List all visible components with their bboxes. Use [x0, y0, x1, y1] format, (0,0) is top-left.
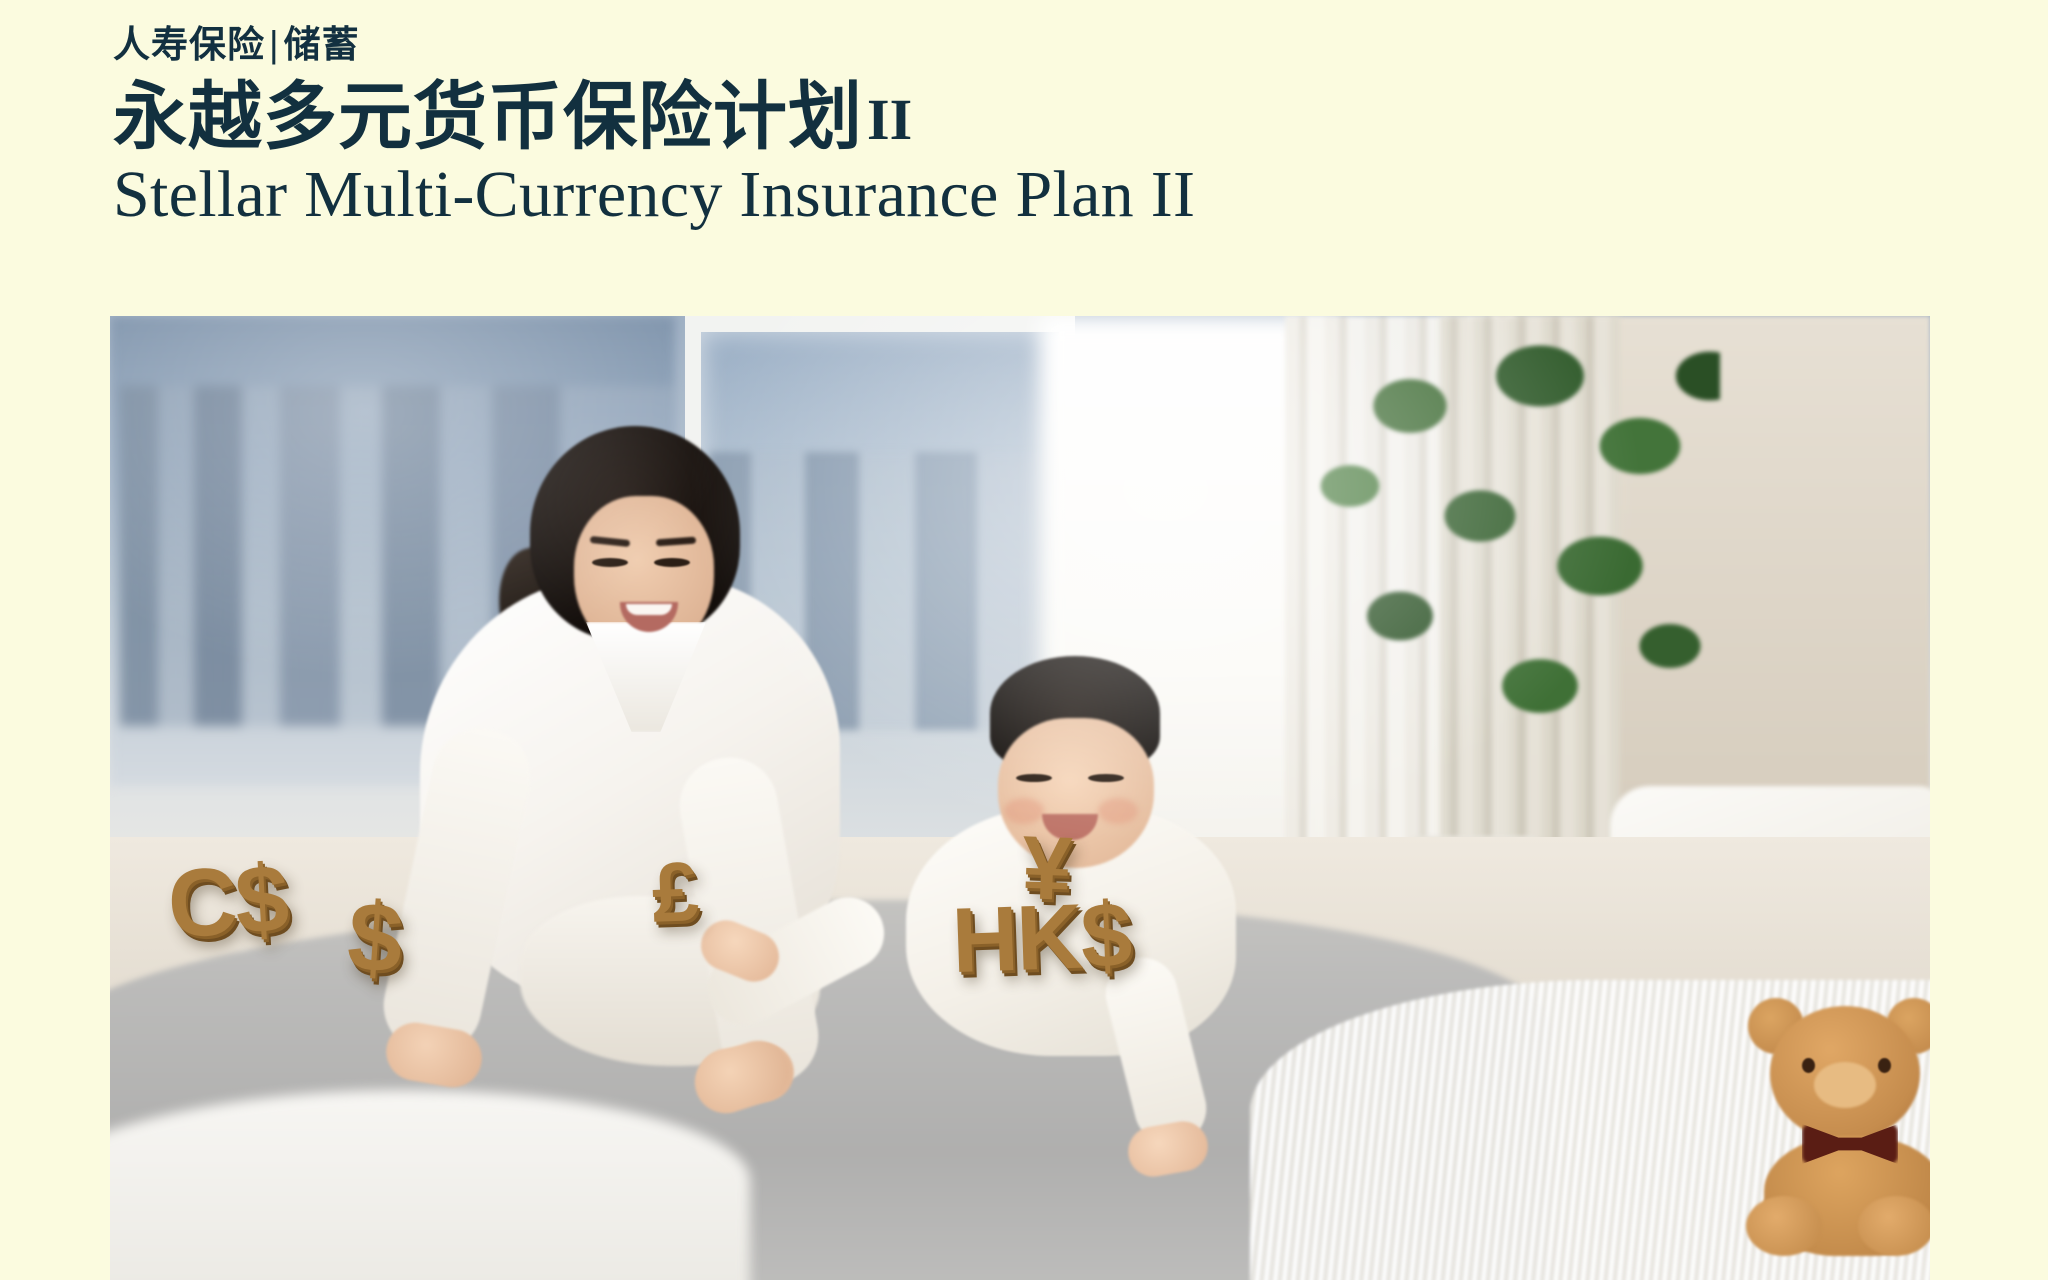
teddy-eye-left	[1802, 1058, 1815, 1073]
currency-symbol-cad: C$	[166, 851, 290, 953]
page-title-chinese: 永越多元货币保险计划II	[113, 81, 1963, 156]
teddy-muzzle	[1814, 1062, 1876, 1108]
page-title-english: Stellar Multi-Currency Insurance Plan II	[113, 162, 1963, 228]
eyebrow-category-life: 人寿保险	[113, 24, 265, 65]
page-title-chinese-text: 永越多元货币保险计划	[113, 77, 863, 159]
page-title-chinese-roman: II	[863, 87, 912, 152]
baby-eye-right	[1088, 774, 1124, 782]
category-eyebrow: 人寿保险|储蓄	[113, 0, 1963, 63]
currency-symbol-gbp: £	[651, 849, 699, 935]
baby-hand-right	[1124, 1117, 1211, 1180]
eyebrow-category-savings: 储蓄	[284, 24, 360, 65]
header: 人寿保险|储蓄 永越多元货币保险计划II Stellar Multi-Curre…	[113, 0, 1963, 228]
mother-eye-right	[654, 558, 690, 567]
baby-cheek-right	[1098, 798, 1138, 824]
hero-photo-canvas: C$ $ £ ¥ HK$	[110, 316, 1930, 1280]
mother-eye-left	[592, 558, 628, 567]
baby-face	[998, 718, 1154, 868]
eyebrow-separator: |	[265, 24, 284, 65]
hero-photo: C$ $ £ ¥ HK$	[110, 316, 1930, 1280]
currency-symbol-usd: $	[345, 886, 404, 987]
teddy-paw-right	[1858, 1196, 1930, 1256]
teddy-paw-left	[1746, 1196, 1822, 1256]
currency-symbol-hkd: HK$	[950, 889, 1131, 987]
mother-figure	[350, 426, 910, 1126]
teddy-eye-right	[1878, 1058, 1891, 1073]
page-root: 人寿保险|储蓄 永越多元货币保险计划II Stellar Multi-Curre…	[0, 0, 2048, 1280]
baby-eye-left	[1016, 774, 1052, 782]
teddy-bear	[1710, 1006, 1930, 1266]
